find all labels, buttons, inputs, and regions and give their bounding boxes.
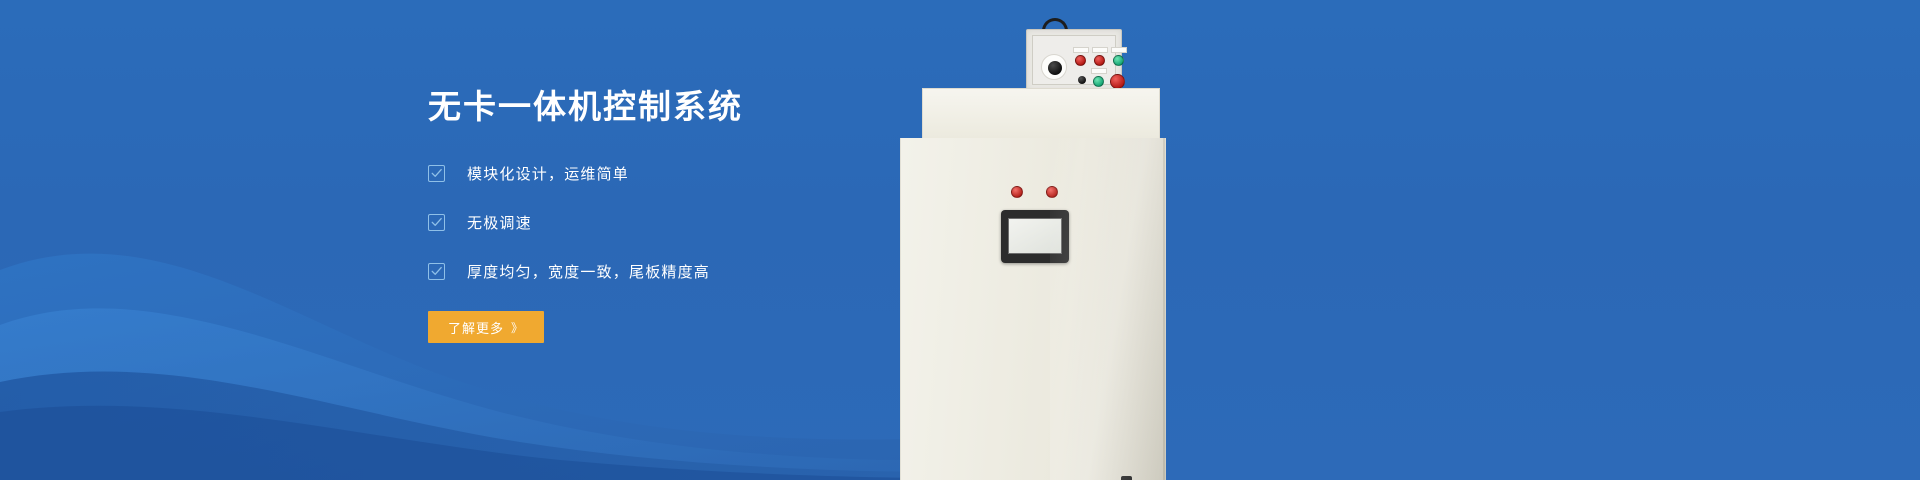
cabinet-top-section <box>922 88 1160 140</box>
hero-banner: 无卡一体机控制系统 模块化设计，运维简单 无极调速 <box>0 0 1920 480</box>
emergency-stop-button[interactable] <box>1110 74 1125 89</box>
toggle-switch[interactable] <box>1078 76 1086 84</box>
door-handle[interactable] <box>1121 476 1132 480</box>
selector-knob[interactable] <box>1041 54 1067 80</box>
hmi-screen-surface[interactable] <box>1008 218 1062 254</box>
start-button-green[interactable] <box>1093 76 1104 87</box>
indicator-lamp-green-1 <box>1113 55 1124 66</box>
operator-control-box <box>1026 29 1122 91</box>
control-box-panel <box>1032 35 1116 85</box>
check-square-icon <box>428 263 445 280</box>
lamp-label <box>1092 47 1108 53</box>
double-chevron-right-icon: 》 <box>511 319 524 336</box>
feature-text: 无极调速 <box>467 212 532 233</box>
lamp-label <box>1073 47 1089 53</box>
button-label <box>1091 68 1107 74</box>
lamp-label <box>1111 47 1127 53</box>
hmi-touch-screen[interactable] <box>1001 210 1069 263</box>
learn-more-label: 了解更多 <box>448 318 504 337</box>
indicator-lamp-red-1 <box>1075 55 1086 66</box>
check-square-icon <box>428 165 445 182</box>
learn-more-button[interactable]: 了解更多 》 <box>428 311 544 343</box>
cabinet-body <box>900 138 1166 480</box>
feature-text: 模块化设计，运维简单 <box>467 163 629 184</box>
hmi-lamp-red-1 <box>1011 186 1023 198</box>
check-square-icon <box>428 214 445 231</box>
hmi-lamp-red-2 <box>1046 186 1058 198</box>
cabinet-edge <box>1163 138 1165 480</box>
indicator-lamp-red-2 <box>1094 55 1105 66</box>
feature-text: 厚度均匀，宽度一致，尾板精度高 <box>467 261 710 282</box>
control-cabinet-photo <box>900 0 1200 480</box>
